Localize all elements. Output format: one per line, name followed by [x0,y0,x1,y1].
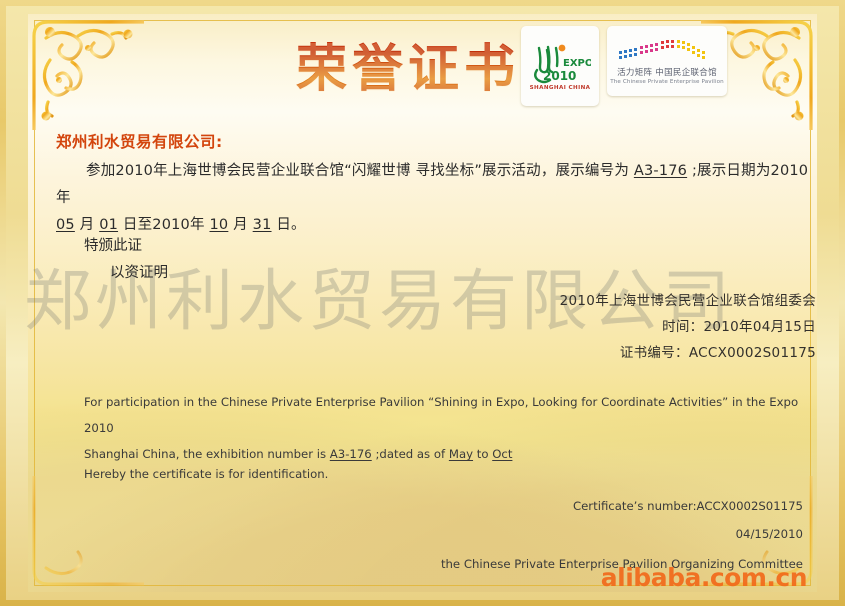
en-start-month: May [449,447,473,461]
en-end-month: Oct [492,447,512,461]
cn-period-end: 日。 [276,217,305,233]
certificate-page: 郑州利水贸易有限公司 荣誉证书 EXPO 2010 SHANGHAI CHINA [0,0,845,606]
en-exhibition-number: A3-176 [330,447,372,461]
corner-ornament-bottom-left [26,476,144,594]
chinese-hereby-text: 特颁此证 [84,234,142,255]
en-to-label: to [477,447,489,461]
chinese-body-paragraph: 参加2010年上海世博会民营企业联合馆“闪耀世博 寻找坐标”展示活动，展示编号为… [56,158,816,239]
recipient-company-name: 郑州利水贸易有限公司: [56,130,223,152]
svg-text:2010: 2010 [543,69,576,83]
pavilion-logo-cn: 活力矩阵 中国民企联合馆 [617,66,717,78]
chinese-proof-text: 以资证明 [110,261,168,282]
chinese-committee-name: 2010年上海世博会民营企业联合馆组委会 [560,288,816,314]
cn-day-label-1: 日 [123,217,138,233]
cn-exhibition-number: A3-176 [634,163,687,179]
en-line1: For participation in the Chinese Private… [84,395,798,435]
cn-end-day: 31 [253,217,272,233]
english-certificate-number: Certificate’s number:ACCX0002S01175 [441,492,803,520]
chinese-certificate-number: 证书编号：ACCX0002S01175 [560,340,816,366]
en-line2-b: ;dated as of [375,447,445,461]
cn-month-label-1: 月 [80,217,95,233]
cn-start-day: 01 [99,217,118,233]
cn-line1-a: 参加2010年上海世博会民营企业联合馆“闪耀世博 寻找坐标”展示活动，展示编号为 [86,163,629,179]
cn-end-month: 10 [209,217,228,233]
logo-group: EXPO 2010 SHANGHAI CHINA [521,26,727,106]
expo-2010-logo: EXPO 2010 SHANGHAI CHINA [521,26,599,106]
pavilion-logo: 活力矩阵 中国民企联合馆 The Chinese Private Enterpr… [607,26,727,96]
english-hereby-text: Hereby the certificate is for identifica… [84,467,328,481]
svg-text:EXPO: EXPO [563,58,591,69]
chinese-issue-date: 时间：2010年04月15日 [560,314,816,340]
corner-ornament-top-left [26,12,144,130]
page-title: 荣誉证书 [296,27,520,101]
english-issue-date: 04/15/2010 [441,520,803,548]
alibaba-watermark: alibaba.com.cn [601,563,807,592]
chinese-signature-block: 2010年上海世博会民营企业联合馆组委会 时间：2010年04月15日 证书编号… [560,288,816,366]
cn-month-label-2: 月 [233,217,248,233]
expo-logo-city: SHANGHAI CHINA [530,85,591,91]
pavilion-logo-en: The Chinese Private Enterprise Pavilion [610,79,724,85]
cn-to-label: 至2010年 [138,217,205,233]
cn-start-month: 05 [56,217,75,233]
en-line2-a: Shanghai China, the exhibition number is [84,447,326,461]
english-body-paragraph: For participation in the Chinese Private… [84,389,804,467]
